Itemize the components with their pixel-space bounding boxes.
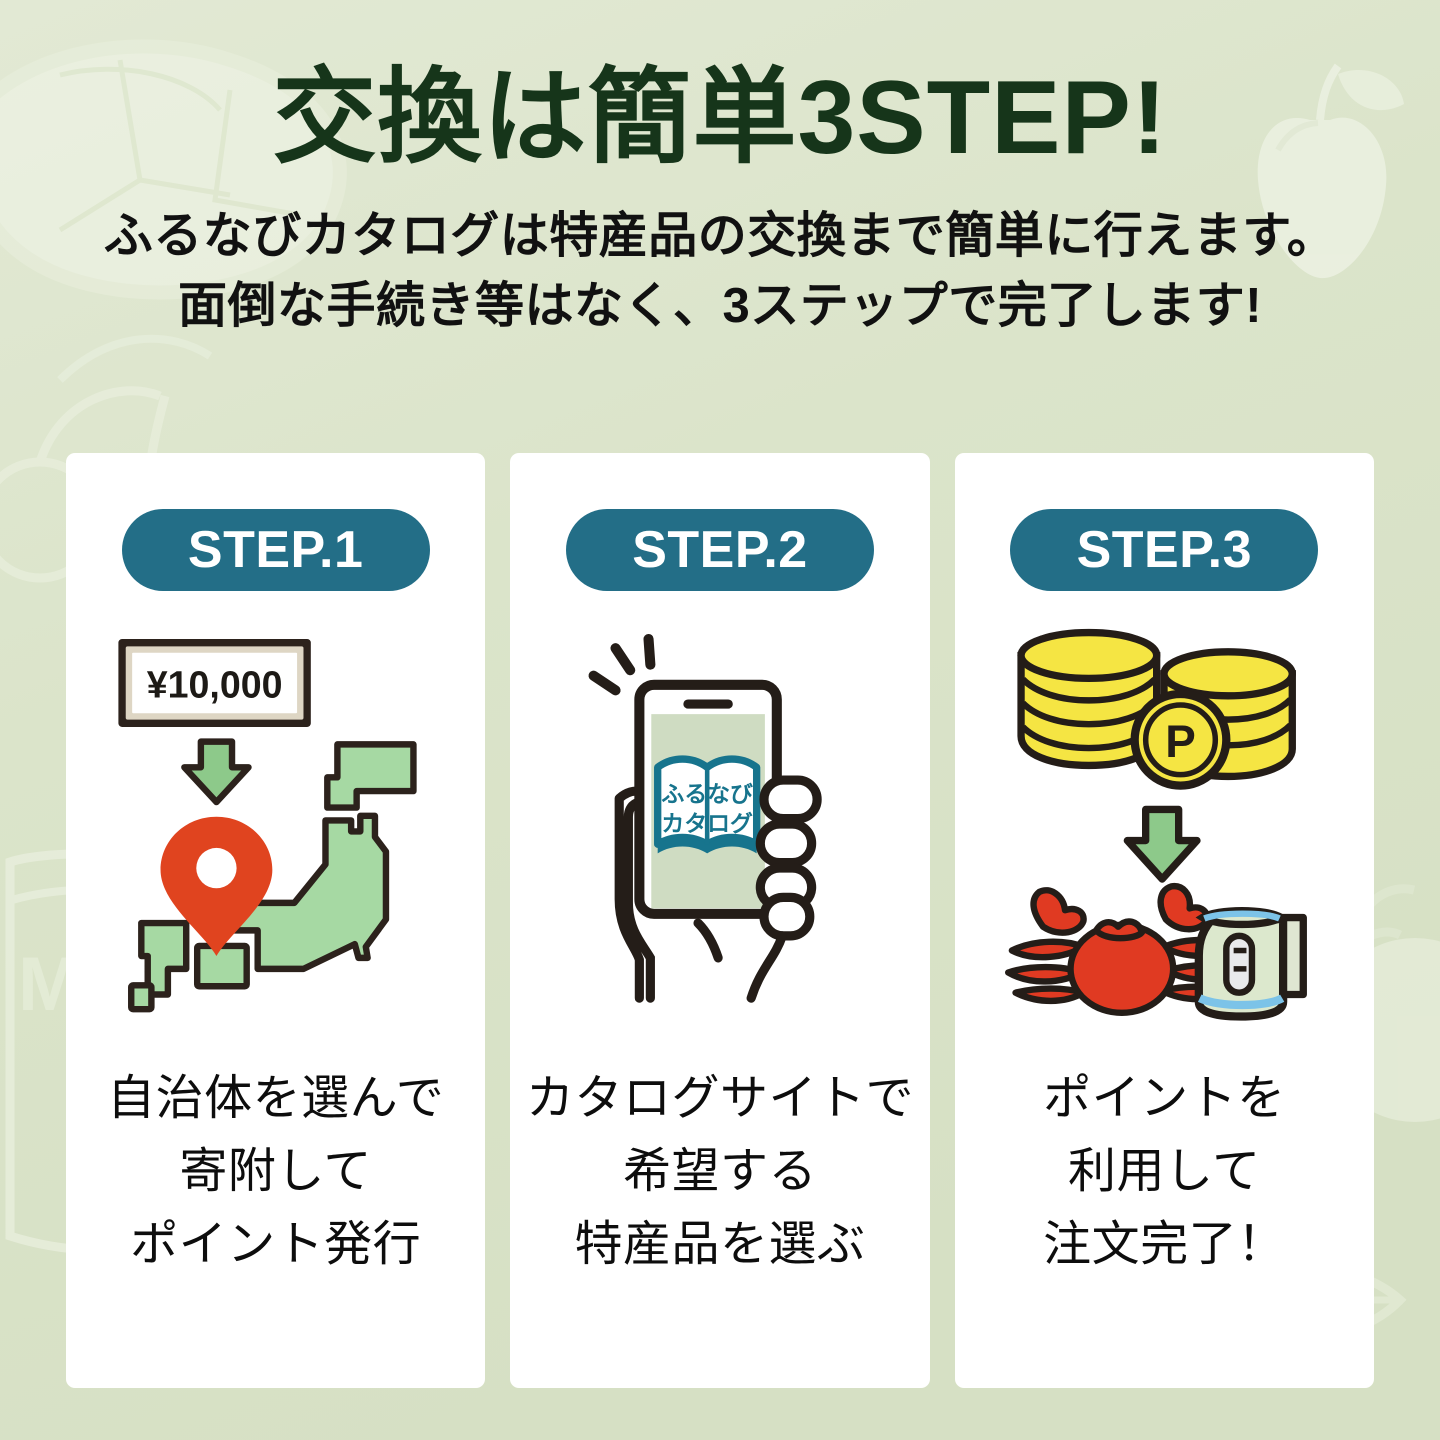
arrow-down-icon xyxy=(1128,809,1198,879)
step-caption-3: ポイントを 利用して 注文完了！ xyxy=(1043,1063,1286,1282)
caption-line: 寄附して xyxy=(107,1136,444,1209)
caption-line: 利用して xyxy=(1043,1136,1286,1209)
emphasis-lines-icon xyxy=(594,639,651,690)
banknote-icon: ¥10,000 xyxy=(118,639,310,727)
step-card-2[interactable]: STEP.2 xyxy=(510,453,929,1388)
subtitle-line-2: 面倒な手続き等はなく、3ステップで完了します! xyxy=(0,272,1440,342)
logo-line-2: カタログ xyxy=(661,810,753,836)
furunavi-catalog-logo: ふるなび カタログ xyxy=(658,759,757,853)
header: 交換は簡単3STEP! ふるなびカタログは特産品の交換まで簡単に行えます。 面倒… xyxy=(0,0,1440,341)
step-badge-3: STEP.3 xyxy=(1010,509,1318,591)
caption-line: 自治体を選んで xyxy=(107,1063,444,1136)
caption-line: 特産品を選ぶ xyxy=(526,1209,914,1282)
donation-map-illustration: ¥10,000 xyxy=(66,609,485,1041)
step-badge-2: STEP.2 xyxy=(566,509,874,591)
phone-catalog-illustration: ふるなび カタログ xyxy=(510,609,929,1041)
banknote-value: ¥10,000 xyxy=(146,664,282,706)
step-badge-1: STEP.1 xyxy=(122,509,430,591)
steps-container: STEP.1 ¥10,000 xyxy=(66,453,1374,1388)
caption-line: 注文完了！ xyxy=(1043,1209,1286,1282)
caption-line: ポイント発行 xyxy=(107,1209,444,1282)
caption-line: カタログサイトで xyxy=(526,1063,914,1136)
electric-kettle-icon xyxy=(1199,911,1303,1017)
step-caption-1: 自治体を選んで 寄附して ポイント発行 xyxy=(107,1063,444,1282)
logo-line-1: ふるなび xyxy=(661,781,753,807)
page-title: 交換は簡単3STEP! xyxy=(0,62,1440,174)
subtitle-line-1: ふるなびカタログは特産品の交換まで簡単に行えます。 xyxy=(0,202,1440,272)
point-coin-icon: P xyxy=(1135,694,1227,786)
step-caption-2: カタログサイトで 希望する 特産品を選ぶ xyxy=(526,1063,914,1282)
coin-label: P xyxy=(1166,716,1197,767)
subtitle: ふるなびカタログは特産品の交換まで簡単に行えます。 面倒な手続き等はなく、3ステ… xyxy=(0,202,1440,341)
step-card-1[interactable]: STEP.1 ¥10,000 xyxy=(66,453,485,1388)
caption-line: ポイントを xyxy=(1043,1063,1286,1136)
points-products-illustration: P xyxy=(955,609,1374,1041)
step-card-3[interactable]: STEP.3 xyxy=(955,453,1374,1388)
arrow-down-icon xyxy=(184,742,248,802)
caption-line: 希望する xyxy=(526,1136,914,1209)
